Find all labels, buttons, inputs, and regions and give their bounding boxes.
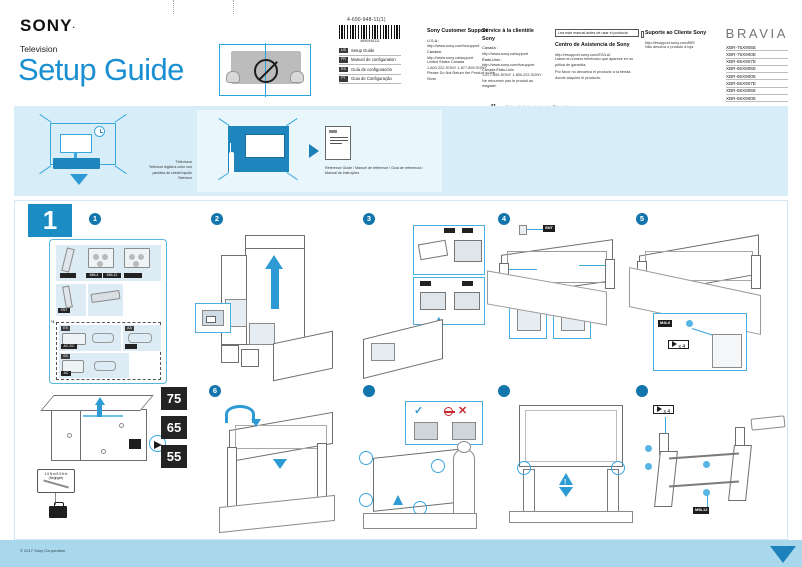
hold-point-left — [517, 461, 531, 475]
model-row: XBR-65X900E — [726, 73, 788, 80]
step-dot-7 — [363, 385, 375, 397]
step-dot-5: 5 — [636, 213, 648, 225]
leg-detail-zoom — [712, 334, 742, 368]
tv-caption: Téléviseur Televisor digital a color con… — [132, 160, 192, 182]
next-page-arrow-icon — [770, 546, 796, 563]
language-row-es: ES Guía de configuración — [339, 65, 401, 75]
step3-callout-bottom — [413, 277, 485, 325]
callout-tag-b — [462, 228, 473, 233]
pt-marker — [641, 31, 644, 38]
step-dot-1: 1 — [89, 213, 101, 225]
support-block-es: Centro de Asistencia de Sony http://esup… — [555, 42, 637, 81]
screw-icon-c — [703, 461, 710, 468]
callout-tag-a — [444, 228, 455, 233]
screw-bag-m5l12 — [124, 248, 150, 268]
screw-icon-b — [645, 463, 652, 470]
screw-icon-a — [645, 445, 652, 452]
copyright-text: © 2017 Sony Corporation — [20, 548, 65, 553]
support-heading-es: Centro de Asistencia de Sony — [555, 42, 637, 50]
assembly-steps-area: 1 1 2 3 4 5 6 M6L4 M5L12 — [14, 200, 788, 540]
step9-illustration: x 4 M5L12 — [639, 397, 789, 535]
model-row: XBR-65X905E — [726, 66, 788, 73]
footer-band — [0, 540, 802, 567]
part-tag-ss: SS — [61, 354, 70, 359]
tv-screen-front — [60, 134, 92, 153]
sony-logo: SONY. — [20, 16, 76, 36]
reference-guide-sheet — [325, 126, 351, 160]
support-note1-es: Llame al número telefónico que aparece e… — [555, 57, 637, 68]
model-row: XBR-65X907E — [726, 59, 788, 66]
arrow-down-icon-a — [70, 174, 88, 185]
step-dot-2: 2 — [211, 213, 223, 225]
crop-mark-left — [173, 0, 174, 14]
language-code-es: ES — [339, 67, 348, 73]
floor-line-step8 — [509, 511, 633, 523]
label-snt-step4: SNT — [543, 225, 555, 232]
plant-stem — [230, 143, 231, 155]
model-row: XBR-75X900E — [726, 51, 788, 58]
label-m5l12: M5L12 — [693, 507, 709, 514]
carton-illustration — [43, 387, 168, 475]
prohibited-icon — [444, 407, 453, 416]
model-row: XBR-75X905E — [726, 44, 788, 51]
step2-illustration — [187, 225, 339, 375]
foot-pad-right — [241, 349, 259, 367]
size-chip-75: 75 — [161, 387, 187, 410]
qty-label-x4-step5: x 4 — [668, 340, 689, 349]
arrow-right-tiny-icon-2 — [657, 406, 662, 412]
foam-block-mid — [249, 323, 275, 345]
screw-head-icon — [686, 320, 693, 327]
language-title-fr: Manuel de configuration — [351, 57, 396, 62]
size-chip-55: 55 — [161, 445, 187, 468]
foot-pad-left — [221, 345, 239, 363]
tv-cabinet — [53, 158, 100, 169]
callout-tag-d — [462, 281, 473, 286]
part-tag-snt: SNT — [58, 308, 70, 313]
language-code-us: US — [339, 48, 348, 54]
step5-detail-callout: M4L6 x 4 — [653, 313, 747, 371]
support-block-pt: Suporte ao Cliente Sony http://esupport.… — [645, 30, 717, 51]
model-number-list: XBR-75X905E XBR-75X900E XBR-65X907E XBR-… — [726, 44, 788, 102]
label-m4l6: M4L6 — [658, 320, 672, 327]
tv-caption-line-4: Televisor — [132, 176, 192, 181]
wrong-grip-figure — [452, 422, 476, 440]
cross-bar-bottom — [669, 481, 739, 488]
carton-flap — [245, 235, 305, 249]
part-tag-aa-sub — [125, 344, 137, 349]
guide-caption-line-2: Manual de instruções — [325, 171, 440, 176]
rotate-arrow-head — [251, 419, 261, 427]
size-sticker-on-box — [129, 439, 141, 449]
part-tag-extra — [124, 273, 142, 278]
arrow-up-icon-step7 — [393, 495, 403, 505]
part-tag-ac: AC — [61, 371, 71, 376]
language-title-es: Guía de configuración — [351, 67, 392, 72]
arrow-down-icon-step8 — [559, 487, 573, 497]
cross-bar-top — [669, 453, 739, 460]
step6-illustration — [205, 397, 355, 535]
part-tag-m5l12: M5L12 — [103, 273, 121, 278]
part-tag-bracket — [60, 273, 76, 278]
model-row: XBR-55X907E — [726, 80, 788, 87]
step8-illustration: ! — [497, 397, 649, 535]
language-title-pt: Guia de Configuração — [351, 76, 392, 81]
language-row-pt: PT Guia de Configuração — [339, 75, 401, 85]
arrow-right-icon — [309, 144, 319, 158]
parts-inventory-panel: M6L4 M5L12 SNT *1 ES AC-DC AA — [49, 239, 167, 384]
page-title: Setup Guide — [18, 52, 184, 88]
arrow-down-icon-step6 — [273, 459, 287, 469]
step-dot-8 — [498, 385, 510, 397]
prohibition-icon — [254, 59, 278, 83]
step3-callout-top — [413, 225, 485, 275]
screw-driver-tip — [519, 225, 527, 235]
carton-opening — [83, 415, 123, 417]
part-tag-m6l4: M6L4 — [86, 273, 102, 278]
power-cord-part-b — [128, 333, 152, 343]
support-heading-fr: Service à la clientèle Sony — [482, 28, 548, 43]
step3-illustration — [345, 225, 495, 375]
stand-leg-right — [605, 259, 615, 289]
warning-exclamation: ! — [564, 479, 566, 486]
grip-point-c — [359, 493, 373, 507]
screwdriver-icon — [43, 479, 69, 488]
grip-point-b — [431, 459, 445, 473]
hold-point-right — [611, 461, 625, 475]
clock-icon — [94, 126, 105, 137]
screw-bag-m6l4 — [88, 248, 114, 268]
step-dot-9 — [636, 385, 648, 397]
reference-guide-caption: Reference Guide / Manuel de référence / … — [325, 166, 440, 177]
size-chip-65: 65 — [161, 416, 187, 439]
stand-leg-right-step8 — [607, 469, 619, 513]
step-dot-3: 3 — [363, 213, 375, 225]
step2-detail-callout — [195, 303, 231, 333]
step5-illustration: M4L6 x 4 — [623, 225, 779, 375]
sony-trademark: . — [73, 21, 76, 30]
language-code-fr: FR — [339, 57, 348, 63]
bravia-wordmark: BRAVIA — [726, 26, 788, 41]
support-note-fr: Ne retournez pas le produit au magasin — [482, 79, 548, 90]
torque-note: 1.5 N·m/1.5 ft·in (Negligee) — [37, 469, 75, 493]
part-tag-acdc: AC-DC — [61, 344, 77, 349]
hand-right-icon — [290, 71, 304, 83]
barcode-number: 4690948111 — [339, 39, 401, 43]
major-step-badge-1: 1 — [28, 204, 72, 237]
language-row-fr: FR Manuel de configuration — [339, 56, 401, 66]
support-note2-es: Por favor no devuelva el producto a la t… — [555, 70, 637, 81]
toolbox-icon — [49, 506, 67, 518]
stand-leg-left-step8 — [523, 469, 535, 513]
setup-guide-page: SONY. Television Setup Guide 4-690-948-1… — [0, 0, 802, 567]
intro-panel-wallmount: Reference Guide / Manuel de référence / … — [197, 110, 442, 192]
intro-illustration-band: Téléviseur Televisor digital a color con… — [14, 106, 788, 196]
check-icon: ✓ — [414, 404, 423, 417]
model-row: XBR-55X900E — [726, 95, 788, 102]
stand-foot-left — [654, 451, 678, 507]
arrow-up-icon-step2 — [265, 255, 283, 269]
wall-mounted-tv — [245, 134, 285, 158]
callout-tag-c — [420, 281, 431, 286]
grip-point-a — [359, 451, 373, 465]
qty-label-x4-step9: x 4 — [653, 405, 674, 414]
step-dot-4: 4 — [498, 213, 510, 225]
do-not-touch-screen-illustration — [219, 44, 311, 96]
sony-wordmark: SONY — [20, 16, 73, 35]
language-edition-list: US Setup Guide FR Manuel de configuratio… — [339, 46, 401, 84]
read-manual-banner-es: Lea este manual antes de usar el product… — [555, 29, 639, 37]
support-heading-pt: Suporte ao Cliente Sony — [645, 30, 717, 38]
stand-plate-c — [420, 292, 446, 310]
table-surface-step7 — [363, 513, 477, 529]
stand-plate-b — [454, 240, 482, 262]
step4-illustration: SNT — [481, 225, 631, 377]
parts-footnote-marker: *1 — [51, 320, 54, 324]
language-code-pt: PT — [339, 76, 348, 82]
barcode-icon — [339, 25, 401, 39]
correct-grip-figure — [414, 422, 438, 440]
language-title-us: Setup Guide — [351, 48, 374, 53]
support-block-fr: Service à la clientèle Sony Canada : htt… — [482, 28, 548, 90]
intro-panel-tv: Téléviseur Televisor digital a color con… — [34, 112, 189, 190]
sheet-logo — [329, 130, 337, 133]
hand-left-icon — [226, 71, 240, 83]
person-head — [457, 441, 471, 453]
stand-plate-a — [418, 240, 448, 261]
power-cord-part-c — [94, 361, 116, 371]
leg-right-step5 — [751, 255, 761, 289]
crop-mark-right — [233, 0, 234, 14]
person-figure — [453, 449, 475, 519]
do-dont-callout: ✓ ✕ — [405, 401, 483, 445]
stand-plate-d — [454, 292, 480, 310]
part-tag-aa: AA — [125, 326, 134, 331]
plant-pot — [229, 152, 234, 174]
part-tag-es: ES — [61, 326, 70, 331]
cross-icon: ✕ — [458, 404, 467, 417]
step7-illustration: ✓ ✕ — [355, 397, 507, 535]
document-number: 4-690-948-11(1) — [347, 17, 386, 23]
model-row: XBR-55X905E — [726, 88, 788, 95]
step-dot-6: 6 — [209, 385, 221, 397]
foam-step3 — [371, 343, 395, 361]
support-note1-pt: Não devolva o produto à loja — [645, 45, 717, 51]
arrow-up-icon-carton — [95, 397, 105, 405]
power-cord-part-a — [92, 333, 114, 343]
bar-part-step9 — [750, 415, 785, 430]
arrow-right-tiny-icon — [672, 341, 677, 347]
language-row-us: US Setup Guide — [339, 46, 401, 56]
leg-left-step6 — [227, 447, 237, 509]
